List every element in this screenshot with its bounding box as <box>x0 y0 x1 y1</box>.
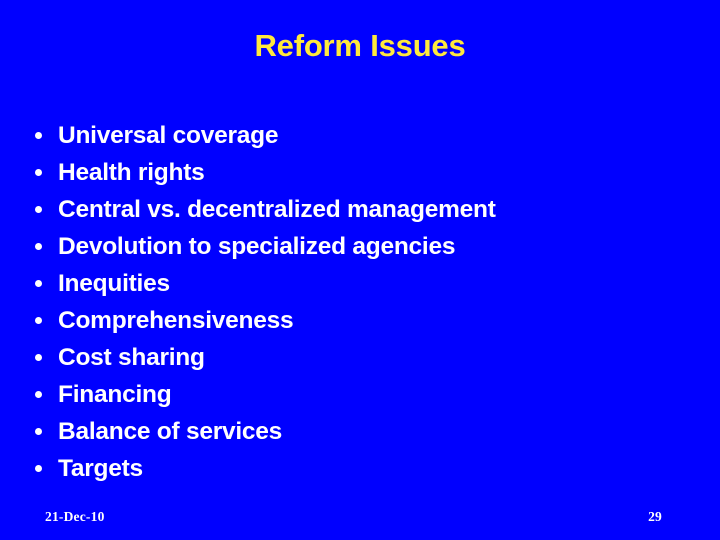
bullet-list: Universal coverage Health rights Central… <box>30 121 670 491</box>
bullet-dot-icon <box>35 132 42 139</box>
list-item: Financing <box>30 380 670 417</box>
bullet-dot-icon <box>35 280 42 287</box>
list-item-label: Central vs. decentralized management <box>58 195 496 225</box>
page-title: Reform Issues <box>0 30 720 61</box>
bullet-dot-icon <box>35 465 42 472</box>
list-item: Universal coverage <box>30 121 670 158</box>
bullet-dot-icon <box>35 317 42 324</box>
bullet-dot-icon <box>35 169 42 176</box>
bullet-dot-icon <box>35 428 42 435</box>
bullet-dot-icon <box>35 391 42 398</box>
list-item-label: Targets <box>58 454 143 484</box>
bullet-dot-icon <box>35 354 42 361</box>
list-item: Health rights <box>30 158 670 195</box>
list-item-label: Universal coverage <box>58 121 278 151</box>
list-item-label: Inequities <box>58 269 170 299</box>
footer-page-number: 29 <box>648 509 662 525</box>
list-item: Balance of services <box>30 417 670 454</box>
footer-date: 21-Dec-10 <box>45 509 105 525</box>
list-item: Inequities <box>30 269 670 306</box>
list-item: Comprehensiveness <box>30 306 670 343</box>
list-item-label: Balance of services <box>58 417 282 447</box>
bullet-dot-icon <box>35 206 42 213</box>
list-item: Cost sharing <box>30 343 670 380</box>
list-item-label: Devolution to specialized agencies <box>58 232 455 262</box>
list-item: Devolution to specialized agencies <box>30 232 670 269</box>
list-item-label: Financing <box>58 380 171 410</box>
list-item-label: Cost sharing <box>58 343 205 373</box>
bullet-dot-icon <box>35 243 42 250</box>
slide-footer: 21-Dec-10 29 <box>0 496 720 540</box>
presentation-slide: Reform Issues Universal coverage Health … <box>0 0 720 540</box>
list-item: Central vs. decentralized management <box>30 195 670 232</box>
list-item-label: Comprehensiveness <box>58 306 293 336</box>
list-item: Targets <box>30 454 670 491</box>
list-item-label: Health rights <box>58 158 205 188</box>
